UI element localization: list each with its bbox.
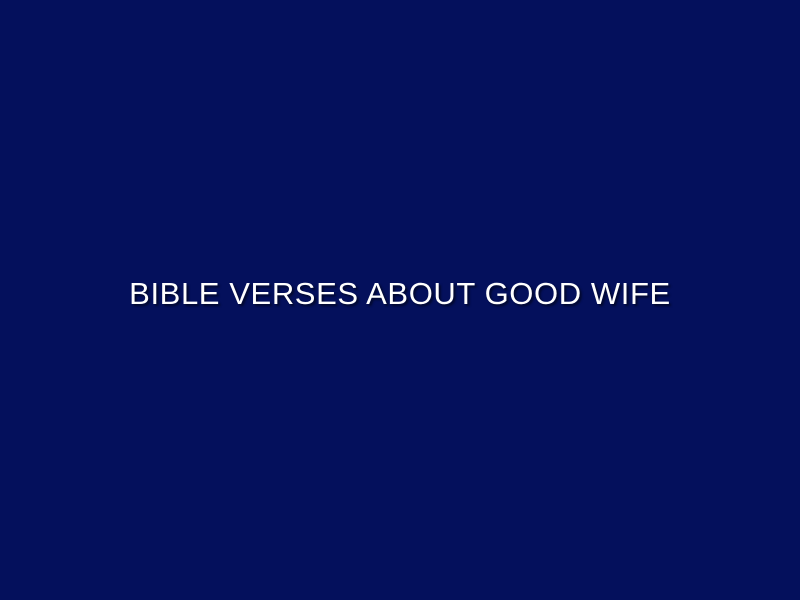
title-banner: BIBLE VERSES ABOUT GOOD WIFE: [0, 0, 800, 600]
page-title: BIBLE VERSES ABOUT GOOD WIFE: [0, 274, 800, 314]
